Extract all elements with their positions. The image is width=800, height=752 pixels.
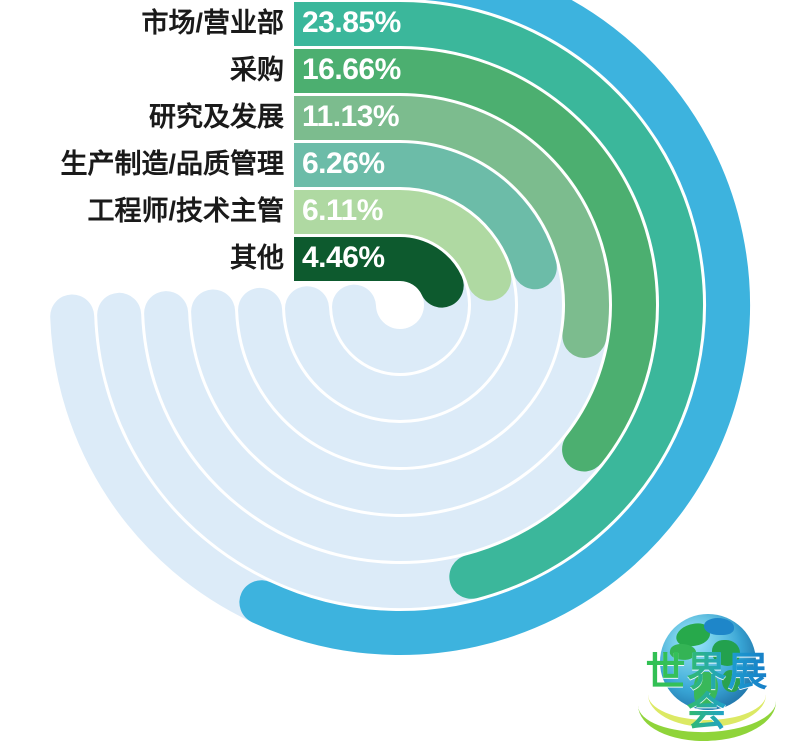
value-label: 11.13%: [302, 102, 399, 132]
category-label: 其他: [230, 245, 284, 272]
radial-bar-chart: 企业管理层市场/营业部采购研究及发展生产制造/品质管理工程师/技术主管其他 31…: [0, 0, 800, 752]
value-label: 23.85%: [302, 8, 401, 38]
category-label: 采购: [230, 57, 284, 84]
brand-logo: 世界展会: [632, 612, 782, 737]
value-label: 6.26%: [302, 149, 385, 179]
value-label: 16.66%: [302, 55, 401, 85]
value-label: 6.11%: [302, 196, 383, 226]
value-label: 4.46%: [302, 243, 385, 273]
category-label: 研究及发展: [149, 104, 284, 131]
category-label: 市场/营业部: [141, 10, 284, 37]
category-label: 生产制造/品质管理: [60, 151, 284, 178]
logo-wordmark: 世界展会: [632, 652, 782, 732]
category-label: 工程师/技术主管: [87, 198, 284, 225]
